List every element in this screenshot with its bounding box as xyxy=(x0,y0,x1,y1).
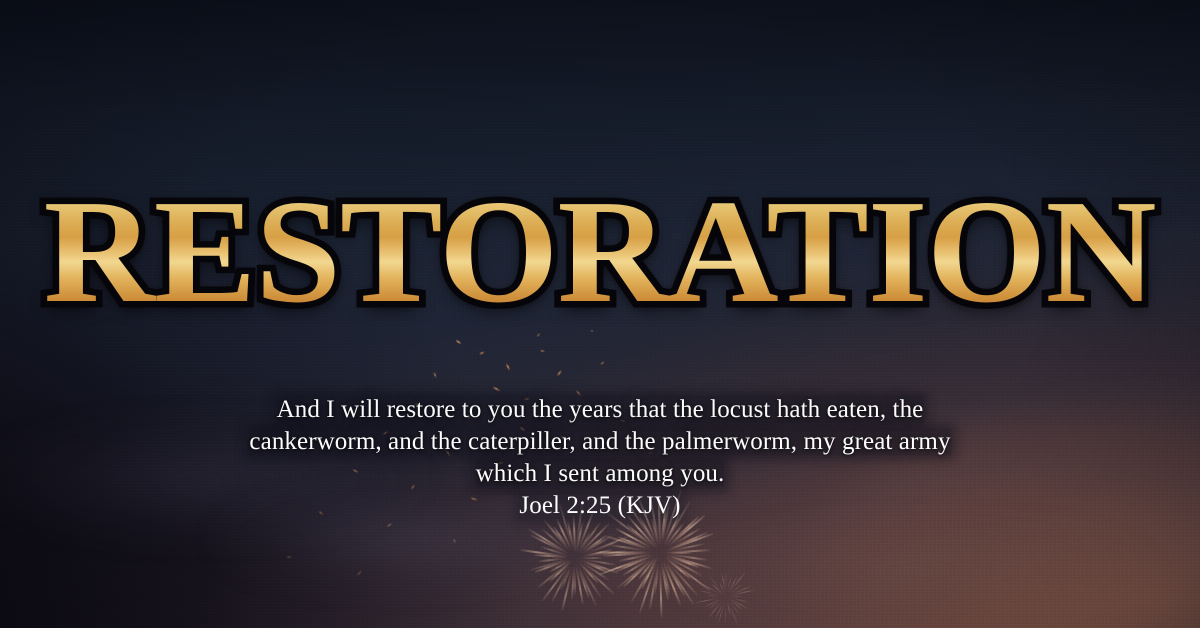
title-gold-layer: RESTORATION xyxy=(44,170,1156,334)
verse-line-1: And I will restore to you the years that… xyxy=(0,394,1200,426)
verse-reference: Joel 2:25 (KJV) xyxy=(0,490,1200,522)
quote-card-canvas: RESTORATION RESTORATION And I will resto… xyxy=(0,0,1200,628)
scripture-verse-block: And I will restore to you the years that… xyxy=(0,394,1200,522)
title-block: RESTORATION RESTORATION xyxy=(0,178,1200,326)
page-title: RESTORATION RESTORATION xyxy=(44,178,1156,326)
verse-line-3: which I sent among you. xyxy=(0,458,1200,490)
verse-line-2: cankerworm, and the caterpiller, and the… xyxy=(0,426,1200,458)
